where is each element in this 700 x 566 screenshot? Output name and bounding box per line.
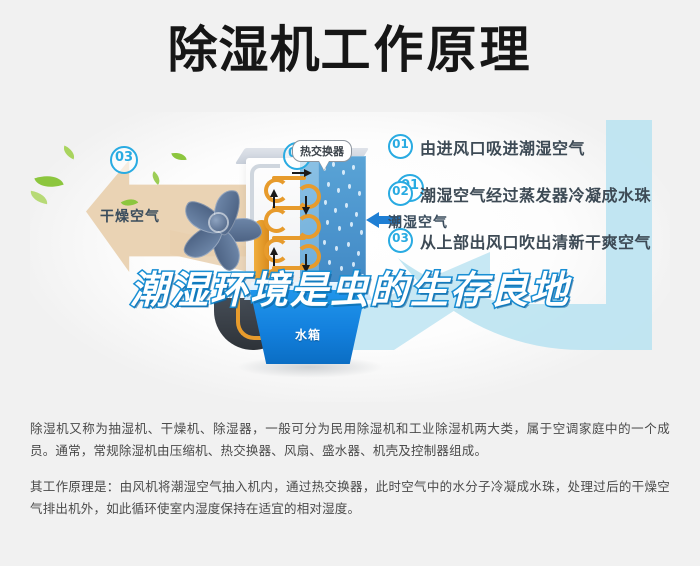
heat-exchanger-callout: 热交换器 — [292, 140, 352, 162]
water-tank-label: 水箱 — [250, 326, 366, 343]
body-paragraph-2: 其工作原理是：由风机将潮湿空气抽入机内，通过热交换器，此时空气中的水分子冷凝成水… — [30, 476, 670, 520]
dry-air-label: 干燥空气 — [100, 206, 160, 226]
step-text: 由进风口吸进潮湿空气 — [420, 135, 585, 159]
list-item: 01 由进风口吸进潮湿空气 — [388, 134, 668, 159]
body-paragraph-1: 除湿机又称为抽湿机、干燥机、除湿器，一般可分为民用除湿机和工业除湿机两大类，属于… — [30, 418, 670, 462]
page-root: 除湿机工作原理 — [0, 0, 700, 566]
body-copy: 除湿机又称为抽湿机、干燥机、除湿器，一般可分为民用除湿机和工业除湿机两大类，属于… — [30, 418, 670, 534]
condensation-droplets — [318, 156, 366, 302]
page-title-part2: 工作原理 — [321, 21, 533, 79]
page-title: 除湿机工作原理 — [0, 22, 700, 78]
page-title-part1: 除湿机 — [168, 21, 321, 79]
list-item: 02 潮湿空气经过蒸发器冷凝成水珠 — [388, 181, 668, 206]
fan-graphic — [176, 172, 272, 272]
step-list: 01 由进风口吸进潮湿空气 02 潮湿空气经过蒸发器冷凝成水珠 03 从上部出风… — [388, 134, 668, 275]
fan-hub — [210, 214, 227, 231]
list-item: 03 从上部出风口吹出清新干爽空气 — [388, 228, 668, 253]
step-number: 01 — [388, 134, 413, 159]
step-number: 03 — [388, 228, 413, 253]
diagram-badge-03: 03 — [110, 146, 138, 174]
step-number: 02 — [388, 181, 413, 206]
evaporator-fin-block — [318, 156, 366, 302]
step-text: 潮湿空气经过蒸发器冷凝成水珠 — [420, 182, 651, 206]
step-text: 从上部出风口吹出清新干爽空气 — [420, 229, 651, 253]
